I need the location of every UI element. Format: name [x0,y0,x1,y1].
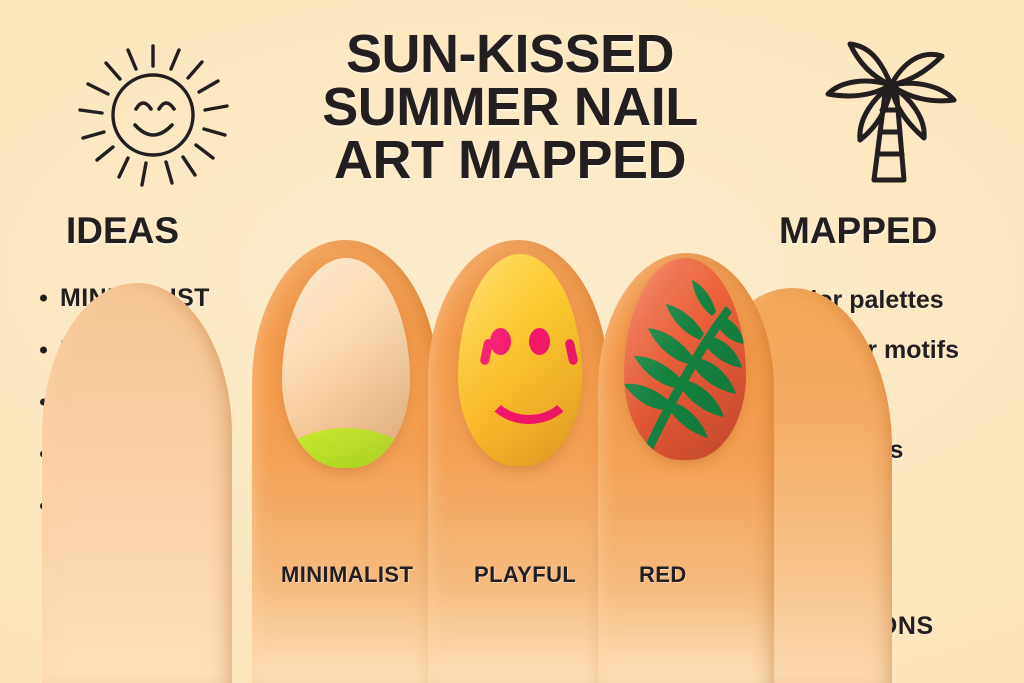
palm-tree-icon [812,28,972,203]
title-line-3: ART MAPPED [250,134,770,187]
palm-frond-motif [624,272,746,460]
smiley-eye-right [529,328,550,355]
nail-red [624,258,746,460]
title-line-2: SUMMER NAIL [250,81,770,134]
nail-captions: MINIMALIST PLAYFUL RED [0,562,1024,598]
caption-playful: PLAYFUL [474,562,576,588]
caption-red: RED [639,562,687,588]
smiley-eye-left [490,328,511,355]
finger-partial-left [42,283,232,683]
title-line-1: SUN-KISSED [250,28,770,81]
caption-minimalist: MINIMALIST [281,562,413,588]
left-panel-heading: IDEAS [66,210,179,252]
lime-base-band [282,428,410,468]
right-panel-heading: MAPPED [779,210,937,252]
hand-illustration [230,240,730,683]
page-title: SUN-KISSED SUMMER NAIL ART MAPPED [250,28,770,187]
infographic-canvas: SUN-KISSED SUMMER NAIL ART MAPPED IDEAS … [0,0,1024,683]
smiley-mouth [482,352,576,424]
sun-smiling-icon [58,30,248,205]
